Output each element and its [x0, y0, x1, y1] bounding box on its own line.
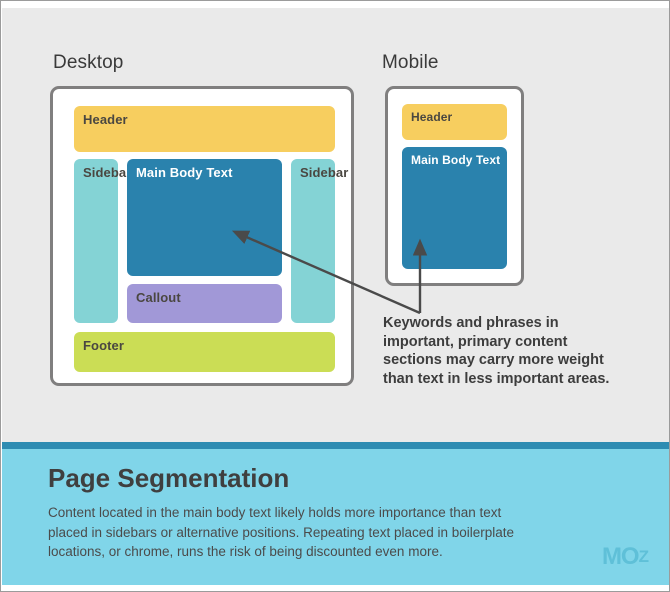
desktop-block-main-body: Main Body Text — [127, 159, 282, 276]
section-divider — [2, 442, 670, 449]
desktop-header-label: Header — [83, 112, 128, 127]
mobile-block-header: Header — [402, 104, 507, 140]
mobile-main-body-label: Main Body Text — [411, 153, 500, 167]
caption-title: Page Segmentation — [48, 463, 289, 494]
diagram-panel: Desktop Mobile Header Sidebar Main Body … — [2, 8, 670, 442]
annotation-line-2: important, primary content — [383, 333, 635, 352]
desktop-block-footer: Footer — [74, 332, 335, 372]
desktop-wireframe-card: Header Sidebar Main Body Text Sidebar Ca… — [50, 86, 354, 386]
desktop-footer-label: Footer — [83, 338, 124, 353]
desktop-main-body-label: Main Body Text — [136, 165, 233, 180]
annotation-line-3: sections may carry more weight — [383, 351, 635, 370]
desktop-sidebar-left-label: Sidebar — [83, 165, 131, 180]
moz-logo: MOZ — [602, 543, 648, 571]
desktop-block-sidebar-right: Sidebar — [291, 159, 335, 323]
annotation-text: Keywords and phrases in important, prima… — [383, 314, 635, 388]
mobile-wireframe-card: Header Main Body Text — [385, 86, 524, 286]
desktop-block-sidebar-left: Sidebar — [74, 159, 118, 323]
moz-logo-text: MO — [602, 543, 639, 570]
mobile-header-label: Header — [411, 110, 452, 124]
desktop-block-header: Header — [74, 106, 335, 152]
caption-body-line-2: placed in sidebars or alternative positi… — [48, 523, 588, 543]
caption-body: Content located in the main body text li… — [48, 503, 588, 562]
mobile-block-main-body: Main Body Text — [402, 147, 507, 269]
caption-body-line-1: Content located in the main body text li… — [48, 503, 588, 523]
desktop-section-title: Desktop — [53, 52, 123, 74]
desktop-sidebar-right-label: Sidebar — [300, 165, 348, 180]
mobile-section-title: Mobile — [382, 52, 439, 74]
moz-logo-z: Z — [639, 547, 648, 566]
desktop-block-callout: Callout — [127, 284, 282, 323]
infographic-frame: Desktop Mobile Header Sidebar Main Body … — [0, 0, 670, 592]
caption-panel: Page Segmentation Content located in the… — [2, 449, 670, 585]
annotation-line-4: than text in less important areas. — [383, 370, 635, 389]
caption-body-line-3: locations, or chrome, runs the risk of b… — [48, 542, 588, 562]
annotation-line-1: Keywords and phrases in — [383, 314, 635, 333]
desktop-callout-label: Callout — [136, 290, 181, 305]
